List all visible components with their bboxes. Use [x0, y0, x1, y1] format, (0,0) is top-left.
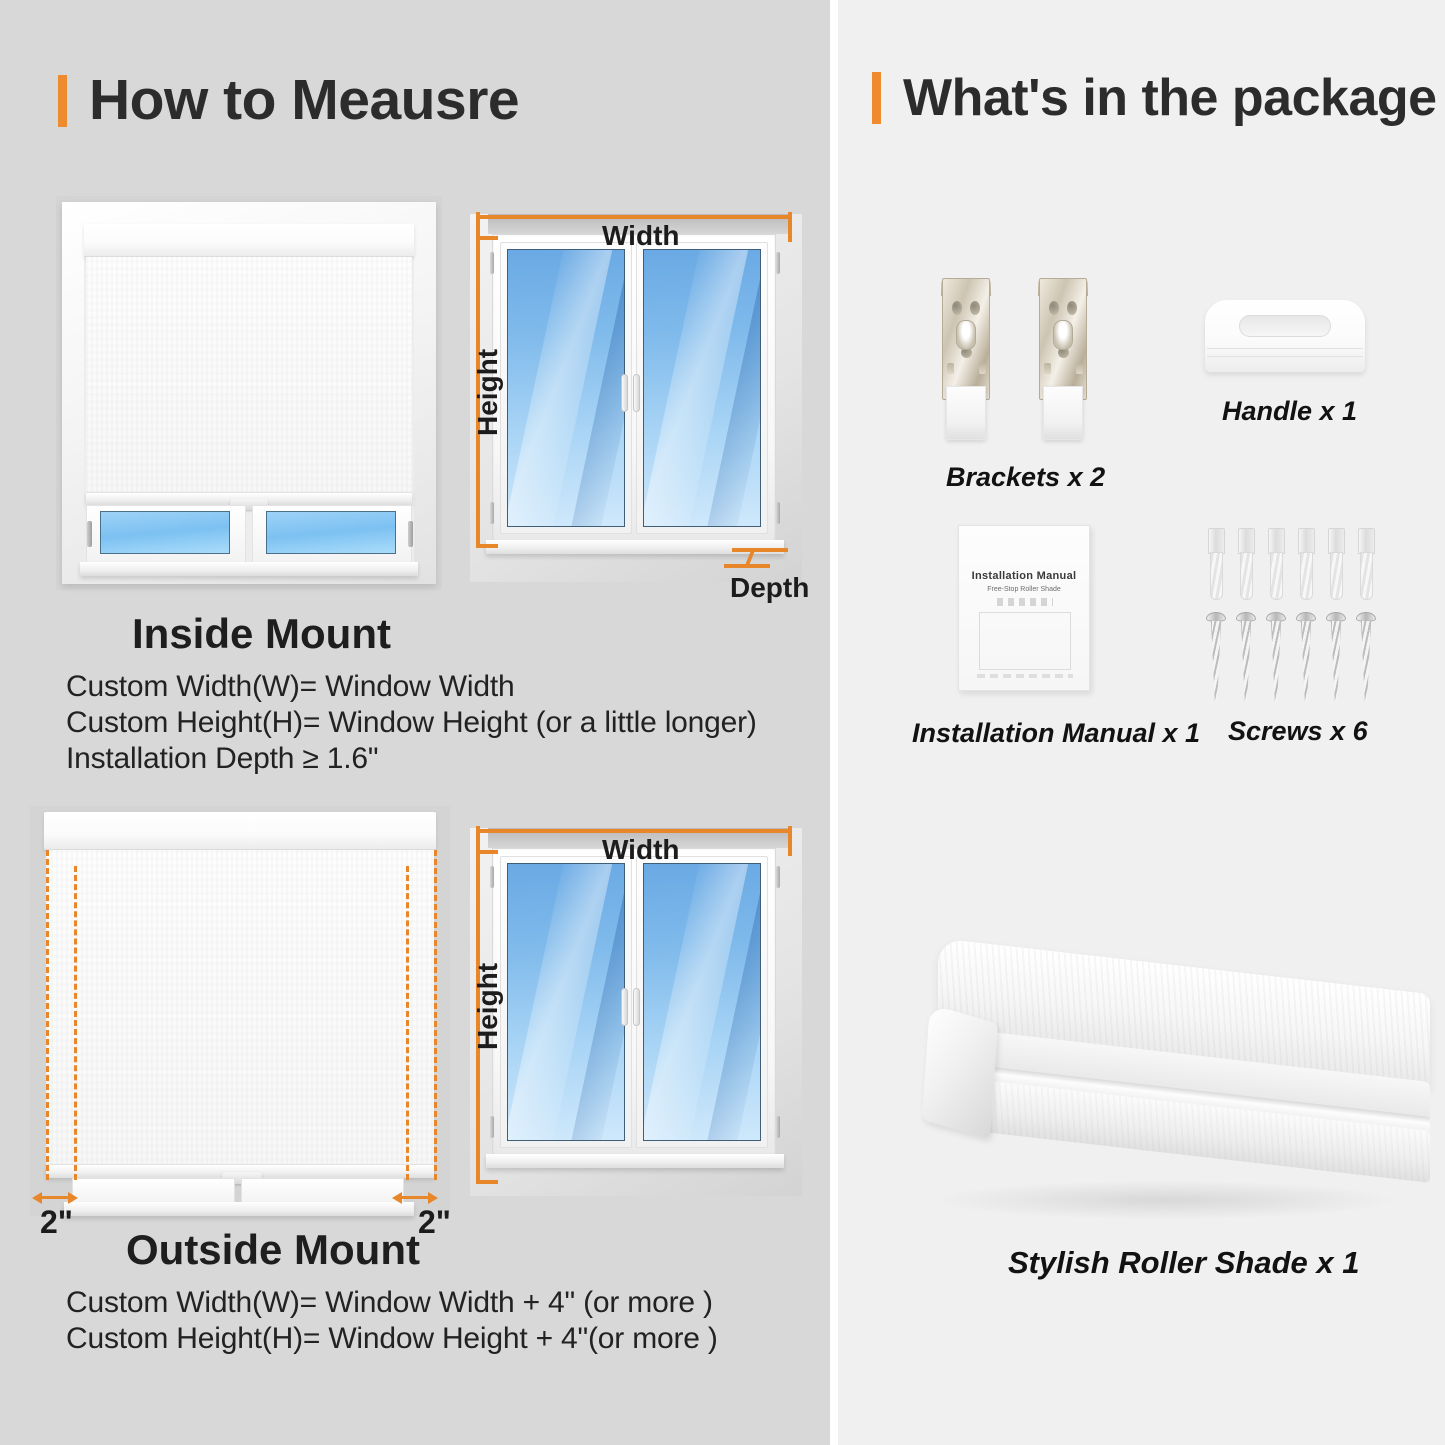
height-measure-cap-bottom — [476, 544, 498, 548]
bracket-keyhole — [956, 320, 976, 350]
window-hinge-bottom-right-icon — [776, 502, 780, 524]
inside-mount-measure-diagram: Width Height Depth — [452, 196, 822, 596]
width-measure-cap-right — [788, 212, 792, 242]
window-glass-left — [507, 249, 625, 527]
bracket-hole — [1067, 301, 1077, 315]
screw-icon — [1356, 612, 1376, 702]
anchor-body — [1330, 552, 1343, 600]
bracket-hole — [970, 301, 980, 315]
outside-mount-title: Outside Mount — [126, 1226, 420, 1274]
width-measure-line — [476, 829, 792, 833]
anchor-head — [1298, 528, 1315, 554]
handle-ridge — [1207, 348, 1363, 349]
height-measure-cap-top — [476, 236, 498, 240]
window-hinge-right-icon — [408, 521, 413, 547]
inside-mount-title: Inside Mount — [132, 610, 391, 658]
screw-head — [1326, 612, 1346, 622]
window-sill — [64, 1202, 414, 1216]
wall-anchor-icon — [1327, 528, 1346, 600]
panel-divider — [830, 0, 838, 1445]
bracket-icon — [938, 278, 994, 443]
anchor-body — [1210, 552, 1223, 600]
brackets-label: Brackets x 2 — [946, 462, 1105, 493]
screw-shaft — [1271, 621, 1281, 701]
outside-mount-measure-diagram: Width Height — [452, 810, 822, 1210]
manual-label: Installation Manual x 1 — [912, 718, 1200, 749]
arrow-head-right-icon — [68, 1192, 78, 1204]
overhang-dash-right-inner — [434, 850, 437, 1180]
anchor-head — [1238, 528, 1255, 554]
overhang-dash-left-inner — [46, 850, 49, 1180]
bracket-slot — [1044, 363, 1051, 374]
arrow-head-left-icon — [392, 1192, 402, 1204]
handle-ridge — [1207, 356, 1363, 357]
inside-mount-shade-illustration — [56, 196, 442, 590]
anchor-body — [1240, 552, 1253, 600]
window-hinge-top-left-icon — [490, 866, 494, 888]
accent-bar-icon — [872, 72, 881, 124]
product-shadow — [930, 1180, 1400, 1220]
screw-head — [1296, 612, 1316, 622]
window-glass-right — [266, 511, 396, 554]
anchor-body — [1360, 552, 1373, 600]
bracket-hole — [952, 301, 962, 315]
anchor-body — [1300, 552, 1313, 600]
accent-bar-icon — [58, 75, 67, 127]
screw-head — [1206, 612, 1226, 622]
window-handle-right-icon — [633, 988, 640, 1026]
window-glass-left — [100, 511, 230, 554]
bracket-foot — [1043, 386, 1083, 440]
depth-measure-line — [732, 548, 788, 552]
wall-anchor-icon — [1297, 528, 1316, 600]
manual-cover-footer — [977, 674, 1073, 678]
window-sill — [80, 562, 418, 576]
window-handle-right-icon — [633, 374, 640, 412]
inside-mount-spec-1: Custom Width(W)= Window Width — [66, 670, 514, 704]
width-measure-cap-right — [788, 826, 792, 856]
window-glass-right — [643, 249, 761, 527]
how-to-measure-heading: How to Meausre — [58, 72, 519, 129]
overhang-dash-left-outer — [74, 866, 77, 1180]
screw-head — [1356, 612, 1376, 622]
window-hinge-top-right-icon — [776, 252, 780, 274]
window-hinge-bottom-left-icon — [490, 1116, 494, 1138]
manual-cover-title: Installation Manual — [959, 570, 1089, 582]
window-handle-left-icon — [621, 374, 628, 412]
manual-cover-image-box — [979, 612, 1071, 670]
bracket-slot — [1076, 363, 1083, 374]
screws-label: Screws x 6 — [1228, 716, 1368, 747]
window-hinge-bottom-left-icon — [490, 502, 494, 524]
width-label: Width — [602, 834, 680, 866]
bracket-keyhole — [1053, 320, 1073, 350]
manual-cover-subtitle: Free-Stop Roller Shade — [959, 586, 1089, 593]
roller-shade-label: Stylish Roller Shade x 1 — [1008, 1245, 1359, 1281]
arrow-bar — [398, 1196, 432, 1199]
screw-shaft — [1301, 621, 1311, 701]
overhang-dash-right-outer — [406, 866, 409, 1180]
depth-label: Depth — [730, 572, 809, 604]
outside-mount-spec-2: Custom Height(H)= Window Height + 4"(or … — [66, 1322, 718, 1356]
screw-shaft — [1241, 621, 1251, 701]
outside-mount-shade-illustration — [30, 806, 450, 1216]
screw-shaft — [1211, 621, 1221, 701]
how-to-measure-title: How to Meausre — [89, 72, 519, 129]
bracket-hole — [1049, 301, 1059, 315]
window-hinge-top-left-icon — [490, 252, 494, 274]
bracket-slot — [979, 363, 986, 374]
roller-shade-icon — [900, 930, 1430, 1220]
arrow-bar — [38, 1196, 72, 1199]
screw-head — [1236, 612, 1256, 622]
handle-label: Handle x 1 — [1222, 396, 1357, 427]
shade-fabric — [46, 850, 434, 1168]
height-label: Height — [472, 963, 504, 1050]
shade-valance — [84, 224, 414, 257]
overhang-label-right: 2" — [418, 1204, 451, 1241]
height-measure-cap-bottom — [476, 1180, 498, 1184]
screw-icon — [1266, 612, 1286, 702]
anchor-head — [1208, 528, 1225, 554]
arrow-head-right-icon — [428, 1192, 438, 1204]
inside-mount-spec-2: Custom Height(H)= Window Height (or a li… — [66, 706, 757, 740]
window-glass-left — [507, 863, 625, 1141]
window-hinge-left-icon — [87, 521, 92, 547]
bracket-icon — [1035, 278, 1091, 443]
screw-icon — [1326, 612, 1346, 702]
window-hinge-top-right-icon — [776, 866, 780, 888]
screw-icon — [1236, 612, 1256, 702]
handle-icon — [1205, 300, 1365, 372]
width-label: Width — [602, 220, 680, 252]
manual-icon: Installation Manual Free-Stop Roller Sha… — [958, 525, 1090, 691]
outside-mount-spec-1: Custom Width(W)= Window Width + 4" (or m… — [66, 1286, 713, 1320]
anchor-head — [1358, 528, 1375, 554]
arrow-head-left-icon — [32, 1192, 42, 1204]
bracket-foot — [946, 386, 986, 440]
screw-head — [1266, 612, 1286, 622]
infographic-page: How to Meausre What's in the package — [0, 0, 1445, 1445]
bracket-slot — [947, 363, 954, 374]
anchor-body — [1270, 552, 1283, 600]
anchor-head — [1328, 528, 1345, 554]
package-heading: What's in the package — [872, 72, 1437, 124]
wall-anchor-icon — [1237, 528, 1256, 600]
wall-anchor-icon — [1267, 528, 1286, 600]
overhang-label-left: 2" — [40, 1204, 73, 1241]
manual-cover-scribble — [997, 598, 1053, 606]
wall-anchor-icon — [1207, 528, 1226, 600]
height-label: Height — [472, 349, 504, 436]
screw-icon — [1296, 612, 1316, 702]
package-title: What's in the package — [903, 72, 1437, 124]
screw-shaft — [1331, 621, 1341, 701]
window-handle-left-icon — [621, 988, 628, 1026]
wall-anchor-icon — [1357, 528, 1376, 600]
handle-slot — [1239, 315, 1331, 337]
shade-valance — [44, 812, 436, 850]
roller-shade-end-cap — [922, 1004, 998, 1139]
shade-fabric — [86, 257, 412, 494]
screw-icon — [1206, 612, 1226, 702]
window-glass-right — [643, 863, 761, 1141]
window-sill — [486, 1154, 784, 1168]
screw-shaft — [1361, 621, 1371, 701]
height-measure-cap-top — [476, 850, 498, 854]
inside-mount-spec-3: Installation Depth ≥ 1.6" — [66, 742, 378, 776]
anchor-head — [1268, 528, 1285, 554]
depth-measure-base — [724, 564, 770, 568]
width-measure-line — [476, 215, 792, 219]
window-hinge-bottom-right-icon — [776, 1116, 780, 1138]
